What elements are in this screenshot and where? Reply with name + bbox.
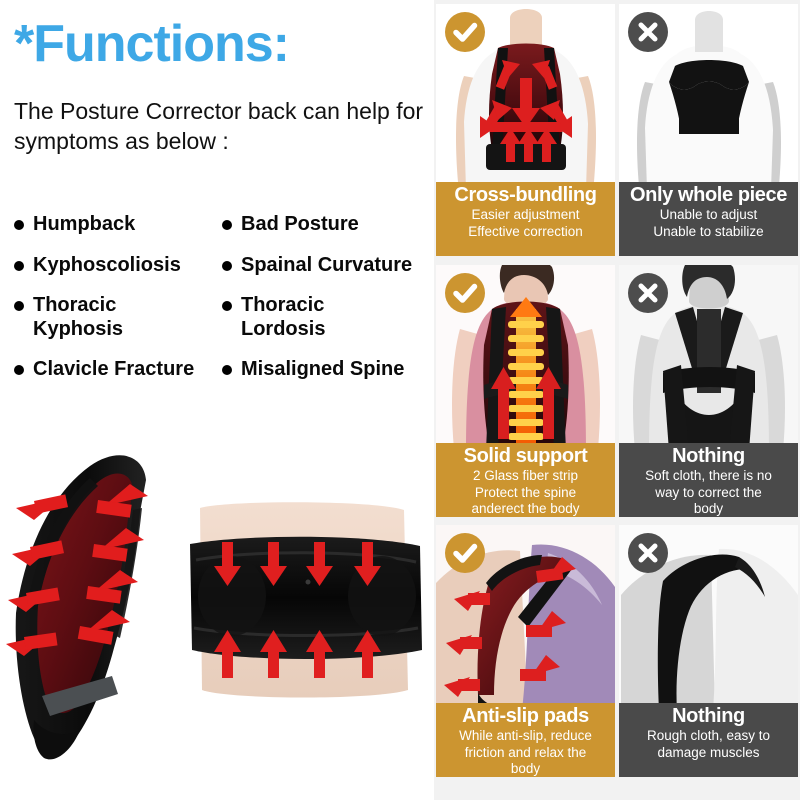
list-item-label: Bad Posture — [241, 213, 359, 237]
intro-text: The Posture Corrector back can help for … — [14, 96, 432, 157]
list-item: Clavicle Fracture — [14, 350, 222, 391]
list-item: Thoracic Kyphosis — [14, 286, 222, 350]
comparison-card-good[interactable]: Anti-slip pads While anti-slip, reduce f… — [436, 525, 615, 777]
card-line: 2 Glass fiber strip — [440, 468, 611, 484]
list-item: Bad Posture — [222, 205, 434, 246]
card-title: Anti-slip pads — [440, 706, 611, 727]
check-circle-icon — [445, 12, 485, 52]
card-title: Only whole piece — [623, 185, 794, 206]
card-line: Protect the spine — [440, 485, 611, 501]
card-caption: Only whole piece Unable to adjust Unable… — [619, 182, 798, 256]
card-caption: Anti-slip pads While anti-slip, reduce f… — [436, 703, 615, 777]
bullet-dot-icon — [14, 301, 24, 311]
card-line: Easier adjustment — [440, 207, 611, 223]
list-item-label: Thoracic Lordosis — [241, 294, 325, 341]
comparison-panel: Cross-bundling Easier adjustment Effecti… — [434, 0, 800, 800]
bullet-dot-icon — [14, 220, 24, 230]
cross-circle-icon — [628, 273, 668, 313]
card-line: While anti-slip, reduce — [440, 728, 611, 744]
list-item-label: Humpback — [33, 213, 135, 237]
bullet-dot-icon — [222, 301, 232, 311]
check-circle-icon — [445, 273, 485, 313]
comparison-row: Anti-slip pads While anti-slip, reduce f… — [434, 521, 800, 780]
comparison-card-good[interactable]: Solid support 2 Glass fiber strip Protec… — [436, 265, 615, 517]
card-line: Rough cloth, easy to — [623, 728, 794, 744]
card-caption: Cross-bundling Easier adjustment Effecti… — [436, 182, 615, 256]
card-line: Unable to stabilize — [623, 224, 794, 240]
card-caption: Nothing Rough cloth, easy to damage musc… — [619, 703, 798, 777]
page-title: *Functions: — [14, 18, 289, 70]
bullet-dot-icon — [14, 365, 24, 375]
product-photo-waist-belt — [186, 500, 426, 700]
functions-panel: *Functions: The Posture Corrector back c… — [0, 0, 434, 800]
card-line: way to correct the — [623, 485, 794, 501]
comparison-card-bad[interactable]: Nothing Soft cloth, there is no way to c… — [619, 265, 798, 517]
bullet-dot-icon — [222, 220, 232, 230]
card-line: anderect the body — [440, 501, 611, 517]
card-line: friction and relax the — [440, 745, 611, 761]
card-line: Unable to adjust — [623, 207, 794, 223]
list-item: Humpback — [14, 205, 222, 246]
infographic-page: *Functions: The Posture Corrector back c… — [0, 0, 800, 800]
card-caption: Solid support 2 Glass fiber strip Protec… — [436, 443, 615, 517]
check-circle-icon — [445, 533, 485, 573]
card-line: Effective correction — [440, 224, 611, 240]
card-line: damage muscles — [623, 745, 794, 761]
card-line: Soft cloth, there is no — [623, 468, 794, 484]
list-item-label: Clavicle Fracture — [33, 358, 194, 382]
cross-circle-icon — [628, 533, 668, 573]
card-caption: Nothing Soft cloth, there is no way to c… — [619, 443, 798, 517]
list-item-label: Thoracic Kyphosis — [33, 294, 123, 341]
comparison-card-bad[interactable]: Nothing Rough cloth, easy to damage musc… — [619, 525, 798, 777]
card-title: Nothing — [623, 706, 794, 727]
list-item-label: Misaligned Spine — [241, 358, 404, 382]
bullet-dot-icon — [222, 261, 232, 271]
comparison-card-bad[interactable]: Only whole piece Unable to adjust Unable… — [619, 4, 798, 256]
cross-circle-icon — [628, 12, 668, 52]
list-item: Spainal Curvature — [222, 246, 434, 287]
card-title: Nothing — [623, 446, 794, 467]
comparison-row: Cross-bundling Easier adjustment Effecti… — [434, 0, 800, 259]
bullet-dot-icon — [222, 365, 232, 375]
list-item-label: Kyphoscoliosis — [33, 254, 181, 278]
card-title: Cross-bundling — [440, 185, 611, 206]
list-item-label: Spainal Curvature — [241, 254, 412, 278]
card-line: body — [440, 761, 611, 777]
symptom-list: Humpback Bad Posture Kyphoscoliosis Spai… — [14, 205, 434, 391]
card-title: Solid support — [440, 446, 611, 467]
comparison-card-good[interactable]: Cross-bundling Easier adjustment Effecti… — [436, 4, 615, 256]
list-item: Thoracic Lordosis — [222, 286, 434, 350]
list-item: Misaligned Spine — [222, 350, 434, 391]
bullet-dot-icon — [14, 261, 24, 271]
comparison-row: Solid support 2 Glass fiber strip Protec… — [434, 261, 800, 520]
card-line: body — [623, 501, 794, 517]
list-item: Kyphoscoliosis — [14, 246, 222, 287]
